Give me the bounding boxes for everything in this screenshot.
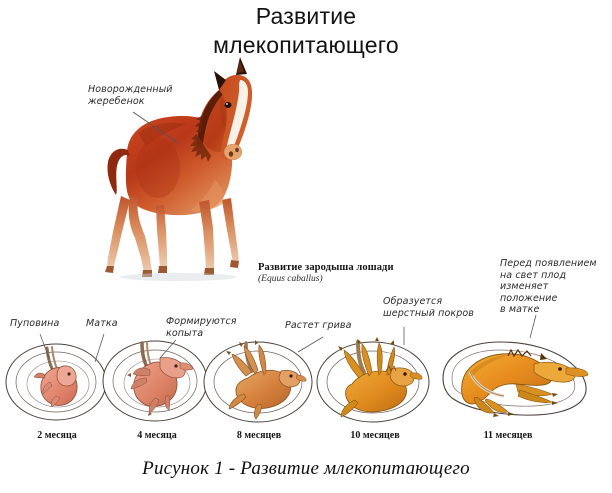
stage-label-11-months: 11 месяцев bbox=[466, 430, 550, 441]
stage-label-2-months: 2 месяца bbox=[18, 430, 96, 441]
stage-label-10-months: 10 месяцев bbox=[333, 430, 417, 441]
figure-root: Развитие млекопитающего bbox=[0, 0, 612, 493]
annotation-uterus: Матка bbox=[86, 318, 118, 330]
stage-label-8-months: 8 месяцев bbox=[218, 430, 300, 441]
annotation-position-change: Перед появлением на свет плод изменяет п… bbox=[500, 258, 597, 316]
embryo-stage-2-months bbox=[6, 344, 106, 420]
annotation-hair-coat: Образуется шерстный покров bbox=[383, 296, 474, 319]
embryo-stage-11-months bbox=[443, 342, 588, 417]
annotation-umbilical-cord: Пуповина bbox=[10, 318, 59, 330]
embryo-stage-4-months bbox=[103, 341, 207, 421]
annotation-mane-growing: Растет грива bbox=[285, 320, 352, 332]
embryo-development-series bbox=[0, 0, 612, 493]
embryo-stage-8-months bbox=[204, 340, 312, 422]
figure-caption: Рисунок 1 - Развитие млекопитающего bbox=[0, 458, 612, 480]
annotation-hooves-forming: Формируются копыта bbox=[166, 316, 237, 339]
embryo-stage-10-months bbox=[317, 337, 429, 422]
stage-label-4-months: 4 месяца bbox=[118, 430, 196, 441]
